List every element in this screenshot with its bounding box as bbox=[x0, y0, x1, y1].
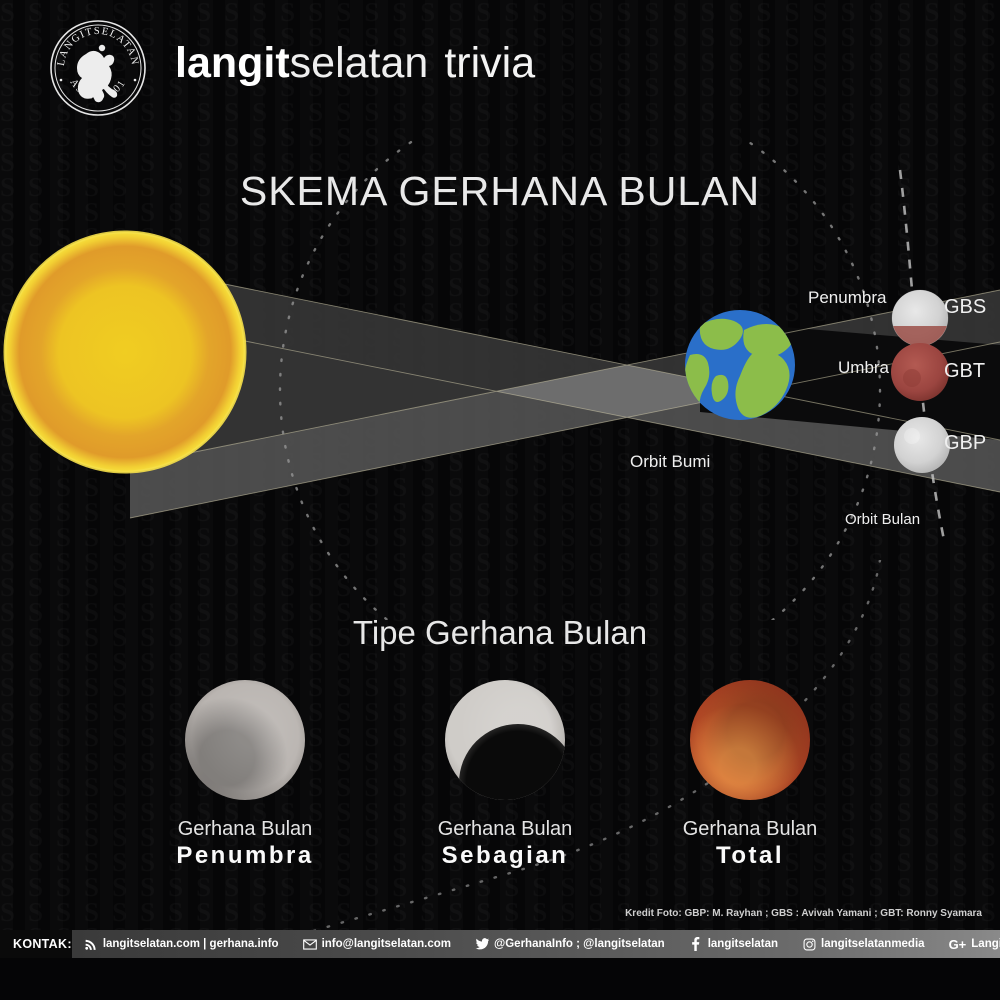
footer-item-text: langitselatan.com | gerhana.info bbox=[103, 938, 279, 950]
footer-item-twitter[interactable]: @GerhanaInfo ; @langitselatan bbox=[463, 930, 677, 958]
footer-item-text: langitselatan bbox=[708, 938, 778, 950]
types-title: Tipe Gerhana Bulan bbox=[0, 614, 1000, 652]
label-gbp: GBP bbox=[944, 432, 986, 455]
instagram-icon bbox=[802, 937, 816, 951]
footer-contact-bar: KONTAK: langitselatan.com | gerhana.info bbox=[0, 930, 1000, 958]
eclipse-type-card-penumbra: Gerhana Bulan Penumbra bbox=[120, 680, 370, 869]
label-gbs: GBS bbox=[944, 296, 986, 319]
footer-item-googleplus[interactable]: G+ LangitselatanMedia bbox=[937, 930, 1000, 958]
sun-icon bbox=[5, 232, 245, 472]
moon-partial-photo bbox=[445, 680, 565, 800]
envelope-icon bbox=[303, 937, 317, 951]
moon-total-icon bbox=[891, 343, 949, 401]
shadow-bite bbox=[459, 724, 565, 800]
moon-total-photo bbox=[690, 680, 810, 800]
label-gbt: GBT bbox=[944, 360, 985, 383]
footer-item-website[interactable]: langitselatan.com | gerhana.info bbox=[72, 930, 291, 958]
horse-rider-icon bbox=[77, 45, 117, 102]
infographic-page: SSSSSSSSSSSSSSSSSSSSSSSSSSSSSSSSSSSSSSSS… bbox=[0, 0, 1000, 1000]
caption-line2: Total bbox=[625, 843, 875, 869]
label-orbit-bulan: Orbit Bulan bbox=[845, 511, 920, 528]
rss-icon bbox=[84, 937, 98, 951]
moon-penumbral-photo bbox=[185, 680, 305, 800]
caption-line2: Penumbra bbox=[120, 843, 370, 869]
brand-suffix: trivia bbox=[444, 39, 535, 87]
footer-item-email[interactable]: info@langitselatan.com bbox=[291, 930, 463, 958]
footer-item-text: info@langitselatan.com bbox=[322, 938, 451, 950]
facebook-icon bbox=[689, 937, 703, 951]
caption-line1: Gerhana Bulan bbox=[438, 818, 573, 840]
eclipse-type-caption: Gerhana Bulan Total bbox=[625, 816, 875, 869]
brand-light: selatan bbox=[290, 39, 429, 87]
header: LANGITSELATAN ASTRO 101 langitselatantri… bbox=[0, 0, 1000, 135]
label-penumbra: Penumbra bbox=[808, 288, 886, 308]
footer-item-facebook[interactable]: langitselatan bbox=[677, 930, 790, 958]
brand-wordmark: langitselatantrivia bbox=[175, 38, 535, 88]
moon-penumbral-icon bbox=[894, 417, 950, 473]
caption-line1: Gerhana Bulan bbox=[683, 818, 818, 840]
eclipse-type-card-sebagian: Gerhana Bulan Sebagian bbox=[380, 680, 630, 869]
eclipse-type-caption: Gerhana Bulan Sebagian bbox=[380, 816, 630, 869]
photo-credit: Kredit Foto: GBP: M. Rayhan ; GBS : Aviv… bbox=[625, 908, 982, 919]
footer-item-instagram[interactable]: langitselatanmedia bbox=[790, 930, 937, 958]
twitter-icon bbox=[475, 937, 489, 951]
eclipse-type-caption: Gerhana Bulan Penumbra bbox=[120, 816, 370, 869]
footer-bottom-strip bbox=[0, 958, 1000, 1000]
kontak-label: KONTAK: bbox=[0, 930, 72, 958]
label-orbit-bumi: Orbit Bumi bbox=[630, 452, 710, 472]
caption-line1: Gerhana Bulan bbox=[178, 818, 313, 840]
brand-bold: langit bbox=[175, 39, 290, 87]
label-umbra: Umbra bbox=[838, 358, 889, 378]
google-plus-icon: G+ bbox=[949, 937, 967, 952]
caption-line2: Sebagian bbox=[380, 843, 630, 869]
footer-item-text: langitselatanmedia bbox=[821, 938, 925, 950]
footer-items: langitselatan.com | gerhana.info info@la… bbox=[72, 930, 1000, 958]
footer-item-text: @GerhanaInfo ; @langitselatan bbox=[494, 938, 665, 950]
footer-item-text: LangitselatanMedia bbox=[971, 938, 1000, 950]
scheme-title: SKEMA GERHANA BULAN bbox=[0, 168, 1000, 215]
langitselatan-seal-logo: LANGITSELATAN ASTRO 101 bbox=[48, 18, 148, 118]
eclipse-type-card-total: Gerhana Bulan Total bbox=[625, 680, 875, 869]
